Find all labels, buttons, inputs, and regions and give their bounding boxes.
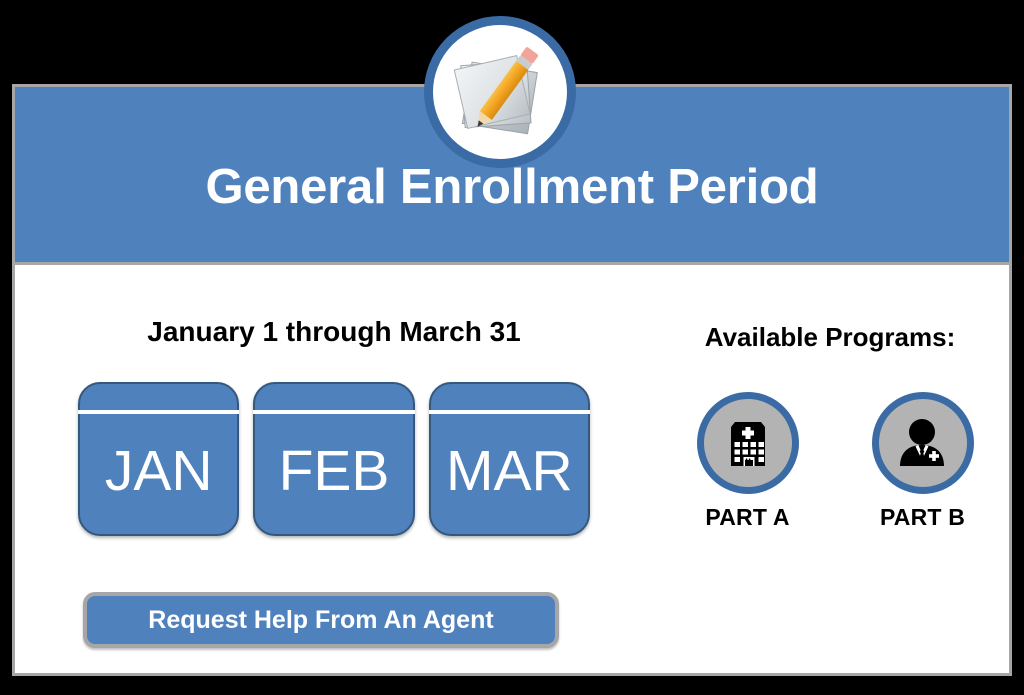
program-part-b[interactable]: PART B: [865, 392, 980, 531]
enrollment-card: General Enrollment Period: [12, 84, 1012, 676]
program-part-a-circle: [697, 392, 799, 494]
request-help-from-agent-label: Request Help From An Agent: [148, 606, 493, 635]
month-box-jan[interactable]: JAN: [78, 382, 239, 536]
month-label: JAN: [80, 440, 237, 502]
calendar-divider-icon: [429, 410, 590, 414]
available-programs-list: PART A PART B: [690, 392, 980, 531]
month-label: FEB: [255, 440, 412, 502]
month-label: MAR: [431, 440, 588, 502]
doctor-icon: [892, 412, 954, 474]
calendar-divider-icon: [253, 410, 414, 414]
calendar-divider-icon: [78, 410, 239, 414]
request-help-from-agent-button[interactable]: Request Help From An Agent: [83, 592, 559, 648]
program-part-a-label: PART A: [705, 504, 789, 531]
hospital-icon: [717, 412, 779, 474]
month-box-feb[interactable]: FEB: [253, 382, 414, 536]
page-title: General Enrollment Period: [15, 159, 1009, 215]
program-part-a[interactable]: PART A: [690, 392, 805, 531]
enrollment-date-range: January 1 through March 31: [74, 316, 594, 348]
program-part-b-circle: [872, 392, 974, 494]
papers-and-pencil-icon: [433, 25, 567, 159]
month-list: JAN FEB MAR: [78, 382, 590, 536]
month-box-mar[interactable]: MAR: [429, 382, 590, 536]
program-part-b-label: PART B: [880, 504, 965, 531]
available-programs-title: Available Programs:: [650, 322, 1010, 353]
screenshot-root: General Enrollment Period: [0, 0, 1024, 695]
papers-and-pencil-badge: [424, 16, 576, 168]
